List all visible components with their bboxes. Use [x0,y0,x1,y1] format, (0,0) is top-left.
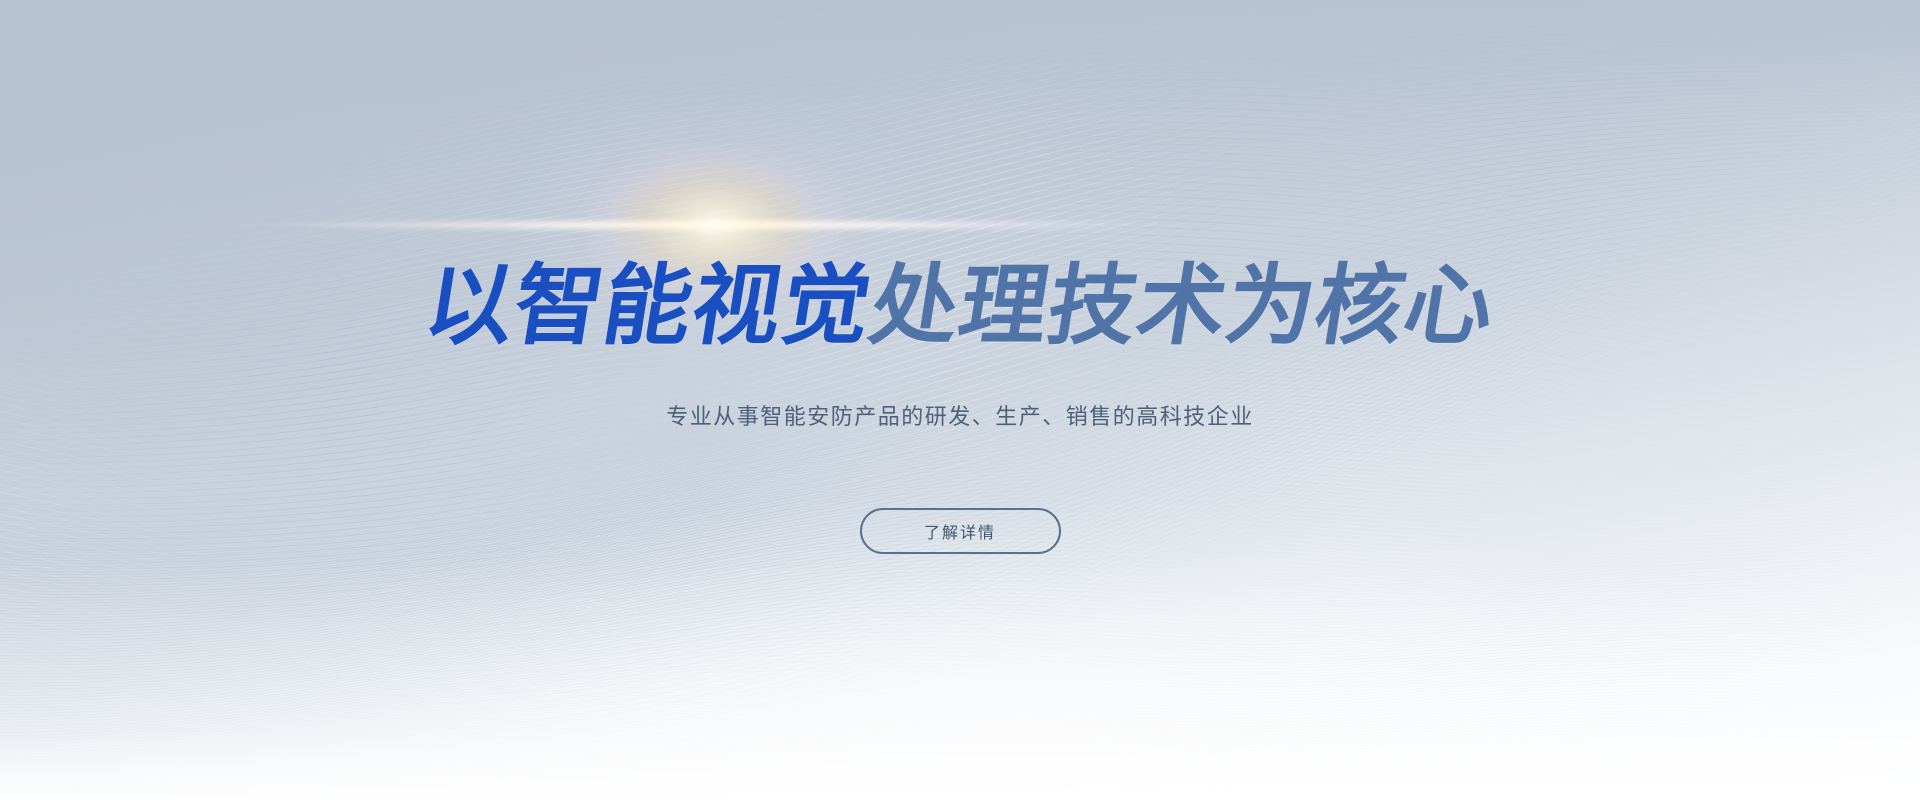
hero-cta-wrap: 了解详情 [0,508,1920,554]
headline-segment-muted: 处理技术为核心 [864,262,1501,350]
hero-content: 以智能视觉处理技术为核心 专业从事智能安防产品的研发、生产、销售的高科技企业 了… [0,0,1920,800]
learn-more-button[interactable]: 了解详情 [860,508,1061,554]
hero-banner: 以智能视觉处理技术为核心 专业从事智能安防产品的研发、生产、销售的高科技企业 了… [0,0,1920,800]
headline-segment-accent: 以智能视觉 [419,262,878,350]
hero-subtitle: 专业从事智能安防产品的研发、生产、销售的高科技企业 [0,404,1920,433]
hero-headline: 以智能视觉处理技术为核心 [0,262,1920,350]
